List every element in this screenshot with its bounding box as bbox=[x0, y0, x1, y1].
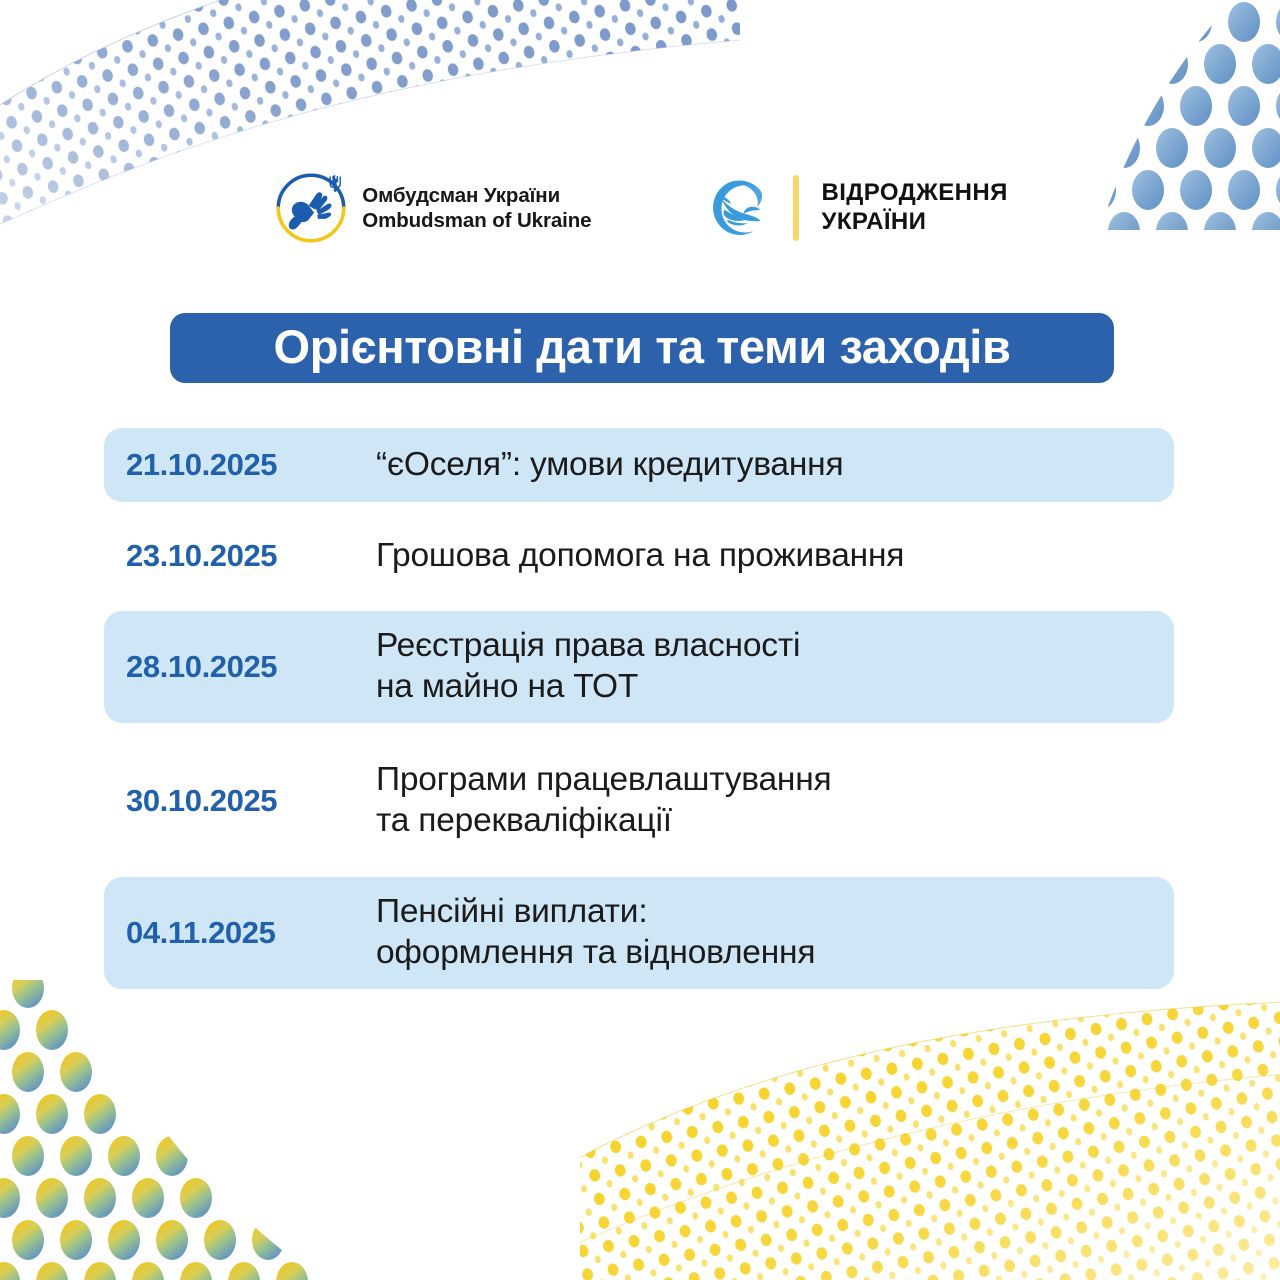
schedule-row[interactable]: 23.10.2025 Грошова допомога на проживанн… bbox=[104, 519, 1174, 593]
schedule-row-topic-line2: та перекваліфікації bbox=[376, 801, 831, 842]
schedule-row-topic: Реєстрація права власності на майно на Т… bbox=[376, 626, 800, 708]
vidrodzhennia-logo: ВІДРОДЖЕННЯ УКРАЇНИ bbox=[703, 172, 1007, 244]
ombudsman-name-en: Ombudsman of Ukraine bbox=[362, 208, 591, 233]
vidrodzhennia-logo-text: ВІДРОДЖЕННЯ УКРАЇНИ bbox=[821, 179, 1007, 237]
schedule-row-topic-line1: Грошова допомога на проживання bbox=[376, 537, 904, 574]
schedule-row-topic: “єОселя”: умови кредитування bbox=[376, 445, 843, 486]
ombudsman-dove-hand-circle-icon bbox=[272, 169, 350, 247]
page-title-banner: Орієнтовні дати та теми заходів bbox=[170, 313, 1114, 383]
schedule-row-topic-line1: Пенсійні виплати: bbox=[376, 893, 647, 930]
schedule-row[interactable]: 28.10.2025 Реєстрація права власності на… bbox=[104, 611, 1174, 723]
schedule-row-topic-line1: Програми працевлаштування bbox=[376, 761, 831, 798]
schedule-row-topic: Грошова допомога на проживання bbox=[376, 536, 904, 577]
logo-bar: Омбудсман України Ombudsman of Ukraine bbox=[0, 160, 1280, 255]
schedule-row-date: 21.10.2025 bbox=[126, 447, 376, 483]
schedule-row-date: 04.11.2025 bbox=[126, 915, 376, 951]
schedule-list: 21.10.2025 “єОселя”: умови кредитування … bbox=[104, 428, 1174, 989]
vidrodzhennia-name-line2: УКРАЇНИ bbox=[821, 208, 1007, 237]
schedule-row[interactable]: 30.10.2025 Програми працевлаштування та … bbox=[104, 745, 1174, 857]
schedule-row[interactable]: 04.11.2025 Пенсійні виплати: оформлення … bbox=[104, 877, 1174, 989]
schedule-row-topic-line1: Реєстрація права власності bbox=[376, 627, 800, 664]
schedule-row-date: 28.10.2025 bbox=[126, 649, 376, 685]
ombudsman-name-uk: Омбудсман України bbox=[362, 183, 591, 208]
schedule-row-topic-line1: “єОселя”: умови кредитування bbox=[376, 446, 843, 483]
bottom-right-wave-decoration bbox=[580, 1000, 1280, 1280]
schedule-row-topic: Програми працевлаштування та перекваліфі… bbox=[376, 760, 831, 842]
schedule-row-topic-line2: оформлення та відновлення bbox=[376, 933, 815, 974]
page-title: Орієнтовні дати та теми заходів bbox=[274, 323, 1011, 373]
logo-divider bbox=[793, 175, 799, 241]
schedule-row-date: 23.10.2025 bbox=[126, 538, 376, 574]
schedule-row[interactable]: 21.10.2025 “єОселя”: умови кредитування bbox=[104, 428, 1174, 502]
bottom-left-gradient-dot-grid-decoration bbox=[0, 980, 370, 1280]
ombudsman-logo-text: Омбудсман України Ombudsman of Ukraine bbox=[362, 183, 591, 233]
vidrodzhennia-name-line1: ВІДРОДЖЕННЯ bbox=[821, 179, 1007, 208]
schedule-row-date: 30.10.2025 bbox=[126, 783, 376, 819]
schedule-row-topic-line2: на майно на ТОТ bbox=[376, 667, 800, 708]
ombudsman-logo: Омбудсман України Ombudsman of Ukraine bbox=[272, 169, 591, 247]
phoenix-bird-circle-icon bbox=[703, 172, 775, 244]
schedule-row-topic: Пенсійні виплати: оформлення та відновле… bbox=[376, 892, 815, 974]
